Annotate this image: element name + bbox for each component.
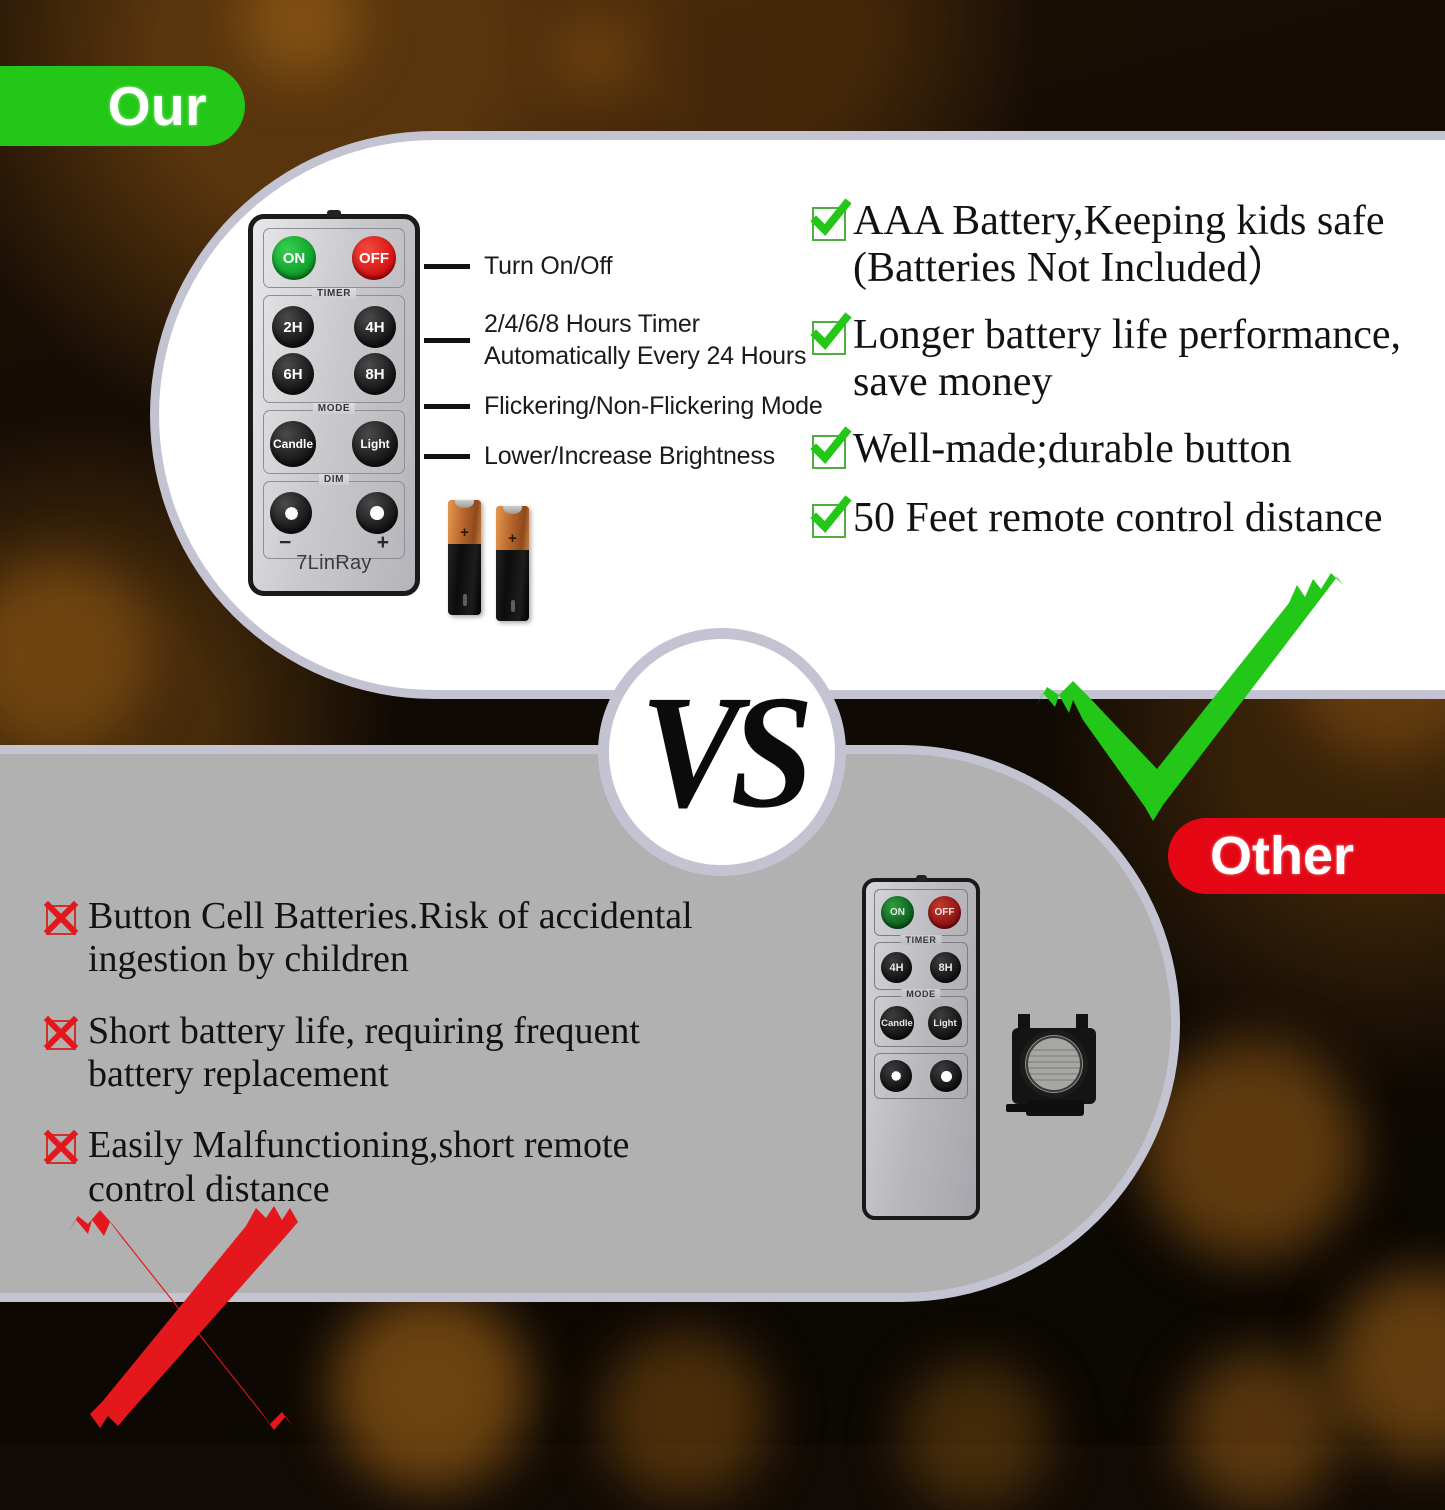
drawback-list: Button Cell Batteries.Risk of accidental… xyxy=(46,895,766,1211)
power-group: ON OFF xyxy=(263,228,405,288)
callout-dim-text: Lower/Increase Brightness xyxy=(484,440,775,472)
mode-group: MODE Candle Light xyxy=(263,410,405,474)
power-on-label: ON xyxy=(283,250,306,267)
callout-power-text: Turn On/Off xyxy=(484,250,612,282)
check-icon xyxy=(812,504,846,538)
list-item: Well-made;durable button xyxy=(812,426,1432,473)
callout-leader-line xyxy=(424,338,470,343)
mode-light-button[interactable]: Light xyxy=(928,1006,962,1040)
cross-icon xyxy=(46,1020,76,1050)
big-cross-mark-icon xyxy=(60,1190,320,1435)
vs-label: VS xyxy=(640,671,803,833)
mode-candle-button[interactable]: Candle xyxy=(270,421,316,467)
list-item: 50 Feet remote control distance xyxy=(812,495,1432,542)
badge-our: Our xyxy=(0,66,245,146)
dim-minus-label: − xyxy=(279,535,291,552)
timer-group: TIMER 2H 4H 6H 8H xyxy=(263,295,405,403)
feature-4-text: 50 Feet remote control distance xyxy=(853,495,1383,542)
check-icon xyxy=(812,435,846,469)
big-check-mark-icon xyxy=(1025,555,1355,840)
brightness-low-icon xyxy=(278,500,304,526)
mode-candle-label: Candle xyxy=(273,437,313,451)
mode-group-label: MODE xyxy=(313,403,355,414)
power-off-button[interactable]: OFF xyxy=(352,236,396,280)
drawback-1-line1: Button Cell Batteries.Risk of accidental xyxy=(88,895,693,937)
callout-timer-line1: 2/4/6/8 Hours Timer xyxy=(484,310,700,338)
feature-list: AAA Battery,Keeping kids safe (Batteries… xyxy=(812,198,1432,542)
aaa-battery: + xyxy=(448,500,481,615)
list-item: AAA Battery,Keeping kids safe (Batteries… xyxy=(812,198,1432,292)
cross-icon xyxy=(46,1134,76,1164)
power-off-button[interactable]: OFF xyxy=(928,896,961,929)
power-on-button[interactable]: ON xyxy=(881,896,914,929)
timer-2h-label: 2H xyxy=(283,319,302,336)
drawback-2-line1: Short battery life, requiring frequent xyxy=(88,1010,640,1052)
vs-badge: VS xyxy=(598,628,846,876)
callout-mode-text: Flickering/Non-Flickering Mode xyxy=(484,390,823,422)
timer-group-label: TIMER xyxy=(901,935,942,945)
timer-8h-label: 8H xyxy=(938,962,952,974)
feature-1-line1: AAA Battery,Keeping kids safe xyxy=(853,198,1384,244)
callout-power: Turn On/Off xyxy=(424,250,612,282)
cross-icon xyxy=(46,905,76,935)
timer-8h-button[interactable]: 8H xyxy=(354,353,396,395)
power-off-label: OFF xyxy=(359,250,389,267)
callout-leader-line xyxy=(424,404,470,409)
dim-plus-label: + xyxy=(377,535,389,552)
timer-6h-label: 6H xyxy=(283,366,302,383)
list-item: Button Cell Batteries.Risk of accidental… xyxy=(46,895,766,982)
ir-emitter-icon xyxy=(916,875,927,881)
mode-light-label: Light xyxy=(360,437,389,451)
timer-group-label: TIMER xyxy=(312,288,356,299)
our-remote: ON OFF TIMER 2H 4H 6H 8H MODE Candle Lig… xyxy=(248,214,420,596)
dim-up-button[interactable] xyxy=(356,492,398,534)
timer-4h-label: 4H xyxy=(365,319,384,336)
feature-2-line1: Longer battery life performance, xyxy=(853,312,1401,358)
brightness-high-icon xyxy=(936,1066,956,1086)
mode-candle-label: Candle xyxy=(881,1018,913,1029)
feature-3-text: Well-made;durable button xyxy=(853,426,1292,473)
battery-polarity-label: + xyxy=(448,525,481,540)
power-off-label: OFF xyxy=(935,907,955,918)
timer-8h-button[interactable]: 8H xyxy=(930,952,961,983)
list-item: Short battery life, requiring frequent b… xyxy=(46,1010,766,1097)
mode-light-label: Light xyxy=(933,1018,956,1029)
power-on-label: ON xyxy=(890,907,905,918)
timer-4h-label: 4H xyxy=(889,962,903,974)
mode-group-label: MODE xyxy=(901,989,940,999)
power-group: ON OFF xyxy=(874,889,968,936)
dim-down-button[interactable] xyxy=(270,492,312,534)
brightness-high-icon xyxy=(364,500,390,526)
remote-brand-label: 7LinRay xyxy=(253,552,415,575)
timer-4h-button[interactable]: 4H xyxy=(881,952,912,983)
timer-8h-label: 8H xyxy=(365,366,384,383)
mode-group: MODE Candle Light xyxy=(874,996,968,1047)
timer-group: TIMER 4H 8H xyxy=(874,942,968,990)
callout-leader-line xyxy=(424,264,470,269)
timer-2h-button[interactable]: 2H xyxy=(272,306,314,348)
list-item: Longer battery life performance, save mo… xyxy=(812,312,1432,406)
check-icon xyxy=(812,207,846,241)
other-remote: ON OFF TIMER 4H 8H MODE Candle Light xyxy=(862,878,980,1220)
power-on-button[interactable]: ON xyxy=(272,236,316,280)
dim-group xyxy=(874,1053,968,1099)
callout-mode: Flickering/Non-Flickering Mode xyxy=(424,390,823,422)
timer-6h-button[interactable]: 6H xyxy=(272,353,314,395)
ir-emitter-icon xyxy=(327,210,341,217)
dim-group-label: DIM xyxy=(319,474,349,485)
dim-up-button[interactable] xyxy=(930,1060,962,1092)
dim-group: DIM − + xyxy=(263,481,405,559)
coin-cell-battery-holder xyxy=(1006,1012,1104,1124)
timer-4h-button[interactable]: 4H xyxy=(354,306,396,348)
callout-leader-line xyxy=(424,454,470,459)
feature-2-line2: save money xyxy=(853,359,1052,405)
drawback-3-line1: Easily Malfunctioning,short remote xyxy=(88,1124,629,1166)
brightness-low-icon xyxy=(886,1066,906,1086)
callout-timer: 2/4/6/8 Hours Timer Automatically Every … xyxy=(424,308,806,372)
check-icon xyxy=(812,321,846,355)
callout-timer-line2: Automatically Every 24 Hours xyxy=(484,342,806,370)
dim-down-button[interactable] xyxy=(880,1060,912,1092)
callout-dim: Lower/Increase Brightness xyxy=(424,440,775,472)
aaa-battery: + xyxy=(496,506,529,621)
drawback-1-line2: ingestion by children xyxy=(88,938,409,980)
mode-light-button[interactable]: Light xyxy=(352,421,398,467)
feature-1-line2: (Batteries Not Included） xyxy=(853,245,1289,291)
battery-polarity-label: + xyxy=(496,531,529,546)
badge-our-label: Our xyxy=(108,74,207,138)
drawback-2-line2: battery replacement xyxy=(88,1053,389,1095)
mode-candle-button[interactable]: Candle xyxy=(880,1006,914,1040)
